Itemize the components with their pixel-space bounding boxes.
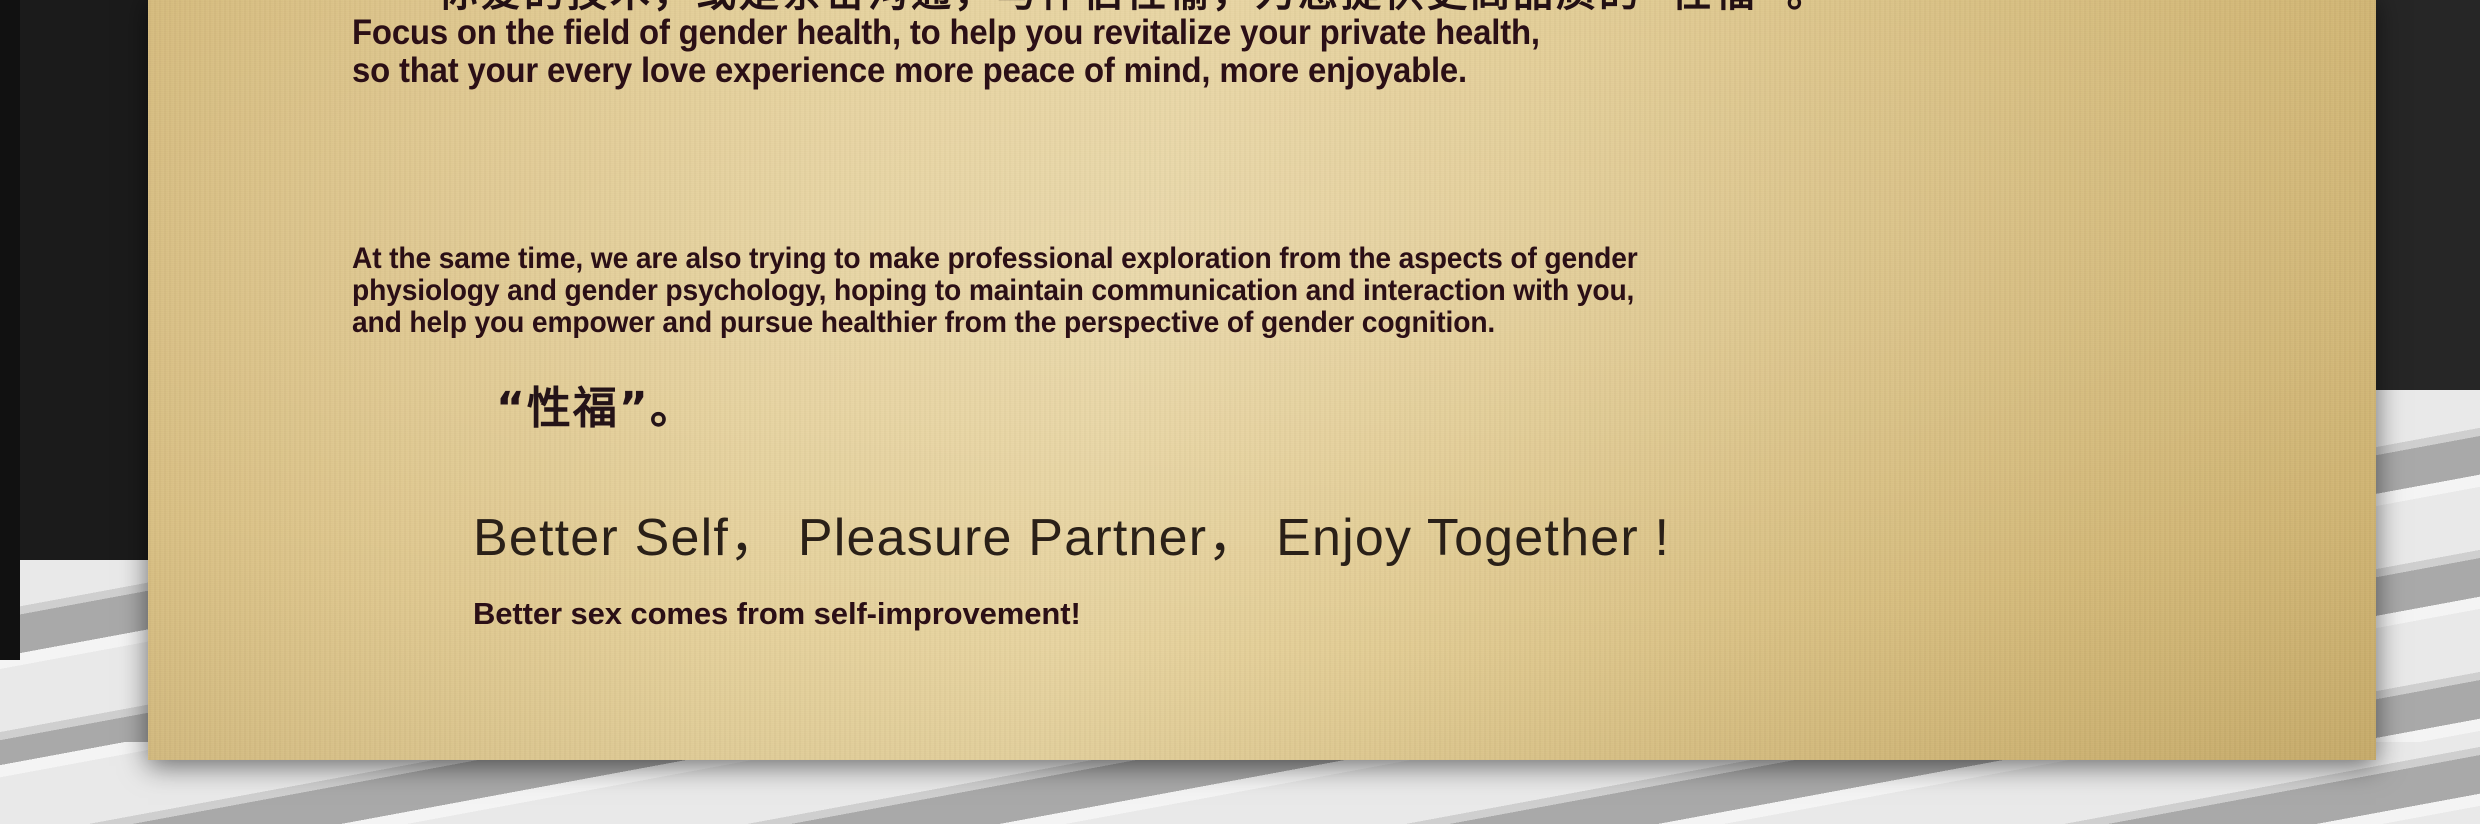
english-paragraph-line-1: At the same time, we are also trying to … [352, 243, 2279, 275]
presentation-scene: 你爱的技术，或是亲密沟通，与伴侣性愉，为您提供更高品质的“性福”。 Focus … [0, 0, 2480, 824]
dark-wall-right-block [2370, 0, 2480, 390]
dark-wall-left-block [0, 0, 150, 560]
english-heading-line-2: so that your every love experience more … [352, 52, 2232, 90]
english-tagline: Better sex comes from self-improvement! [473, 597, 1081, 631]
english-heading-line-1: Focus on the field of gender health, to … [352, 14, 2232, 52]
dark-wall-left-edge [0, 0, 20, 660]
english-heading: Focus on the field of gender health, to … [352, 14, 2232, 90]
presentation-slide[interactable]: 你爱的技术，或是亲密沟通，与伴侣性愉，为您提供更高品质的“性福”。 Focus … [148, 0, 2376, 760]
english-paragraph-line-3: and help you empower and pursue healthie… [352, 307, 2279, 339]
english-slogan: Better Self， Pleasure Partner， Enjoy Tog… [473, 510, 1670, 566]
english-paragraph-line-2: physiology and gender psychology, hoping… [352, 275, 2279, 307]
english-paragraph: At the same time, we are also trying to … [352, 243, 2279, 339]
chinese-xingfu-text: “性福”。 [496, 372, 696, 436]
